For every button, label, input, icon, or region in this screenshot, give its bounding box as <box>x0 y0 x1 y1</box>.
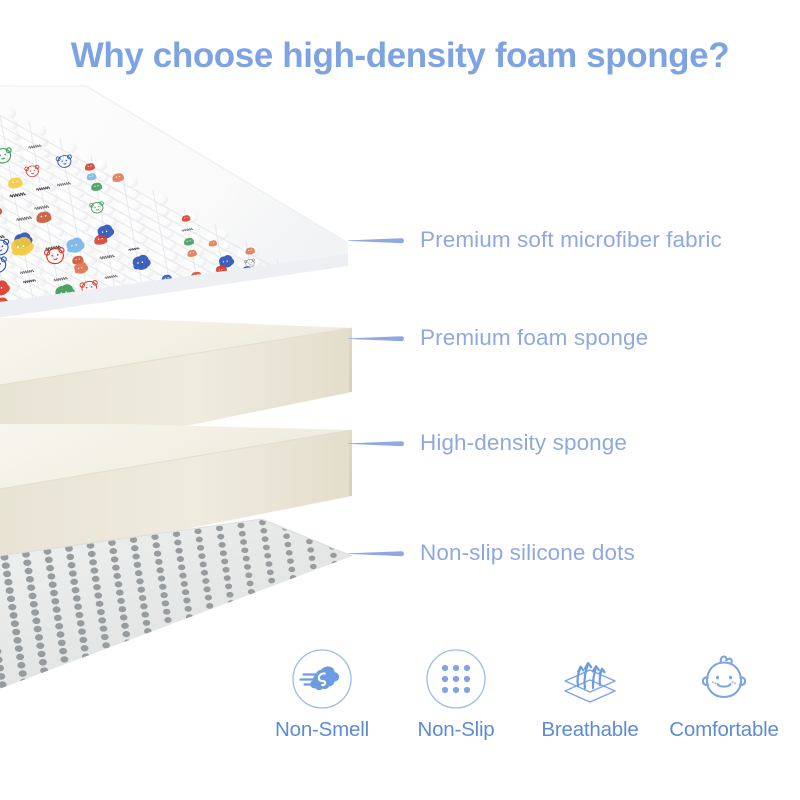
infographic-canvas: Why choose high-density foam sponge? <box>0 0 800 800</box>
feature-non-slip: Non-Slip <box>392 648 520 742</box>
feature-label: Comfortable <box>669 718 778 742</box>
leader-line-icon <box>348 236 410 244</box>
callout-premium-soft-microfiber-fabric: Premium soft microfiber fabric <box>348 223 722 257</box>
feature-non-smell: Non-Smell <box>258 648 386 742</box>
feature-label: Non-Smell <box>275 718 369 742</box>
leader-line-icon <box>348 334 410 342</box>
callout-label: Non-slip silicone dots <box>420 540 635 566</box>
non-slip-dots-icon <box>425 648 487 710</box>
leader-line-icon <box>348 549 410 557</box>
callout-label: Premium foam sponge <box>420 325 648 351</box>
breathable-layers-icon <box>559 648 621 710</box>
feature-row: Non-Smell Non-Slip <box>258 648 788 768</box>
feature-label: Non-Slip <box>417 718 494 742</box>
callout-label: High-density sponge <box>420 430 627 456</box>
non-smell-icon <box>291 648 353 710</box>
callout-high-density-sponge: High-density sponge <box>348 426 627 460</box>
feature-label: Breathable <box>541 718 638 742</box>
callout-non-slip-silicone-dots: Non-slip silicone dots <box>348 536 635 570</box>
feature-comfortable: Comfortable <box>660 648 788 742</box>
feature-breathable: Breathable <box>526 648 654 742</box>
callout-premium-foam-sponge: Premium foam sponge <box>348 321 648 355</box>
leader-line-icon <box>348 439 410 447</box>
baby-face-icon <box>693 648 755 710</box>
callout-label: Premium soft microfiber fabric <box>420 227 722 253</box>
